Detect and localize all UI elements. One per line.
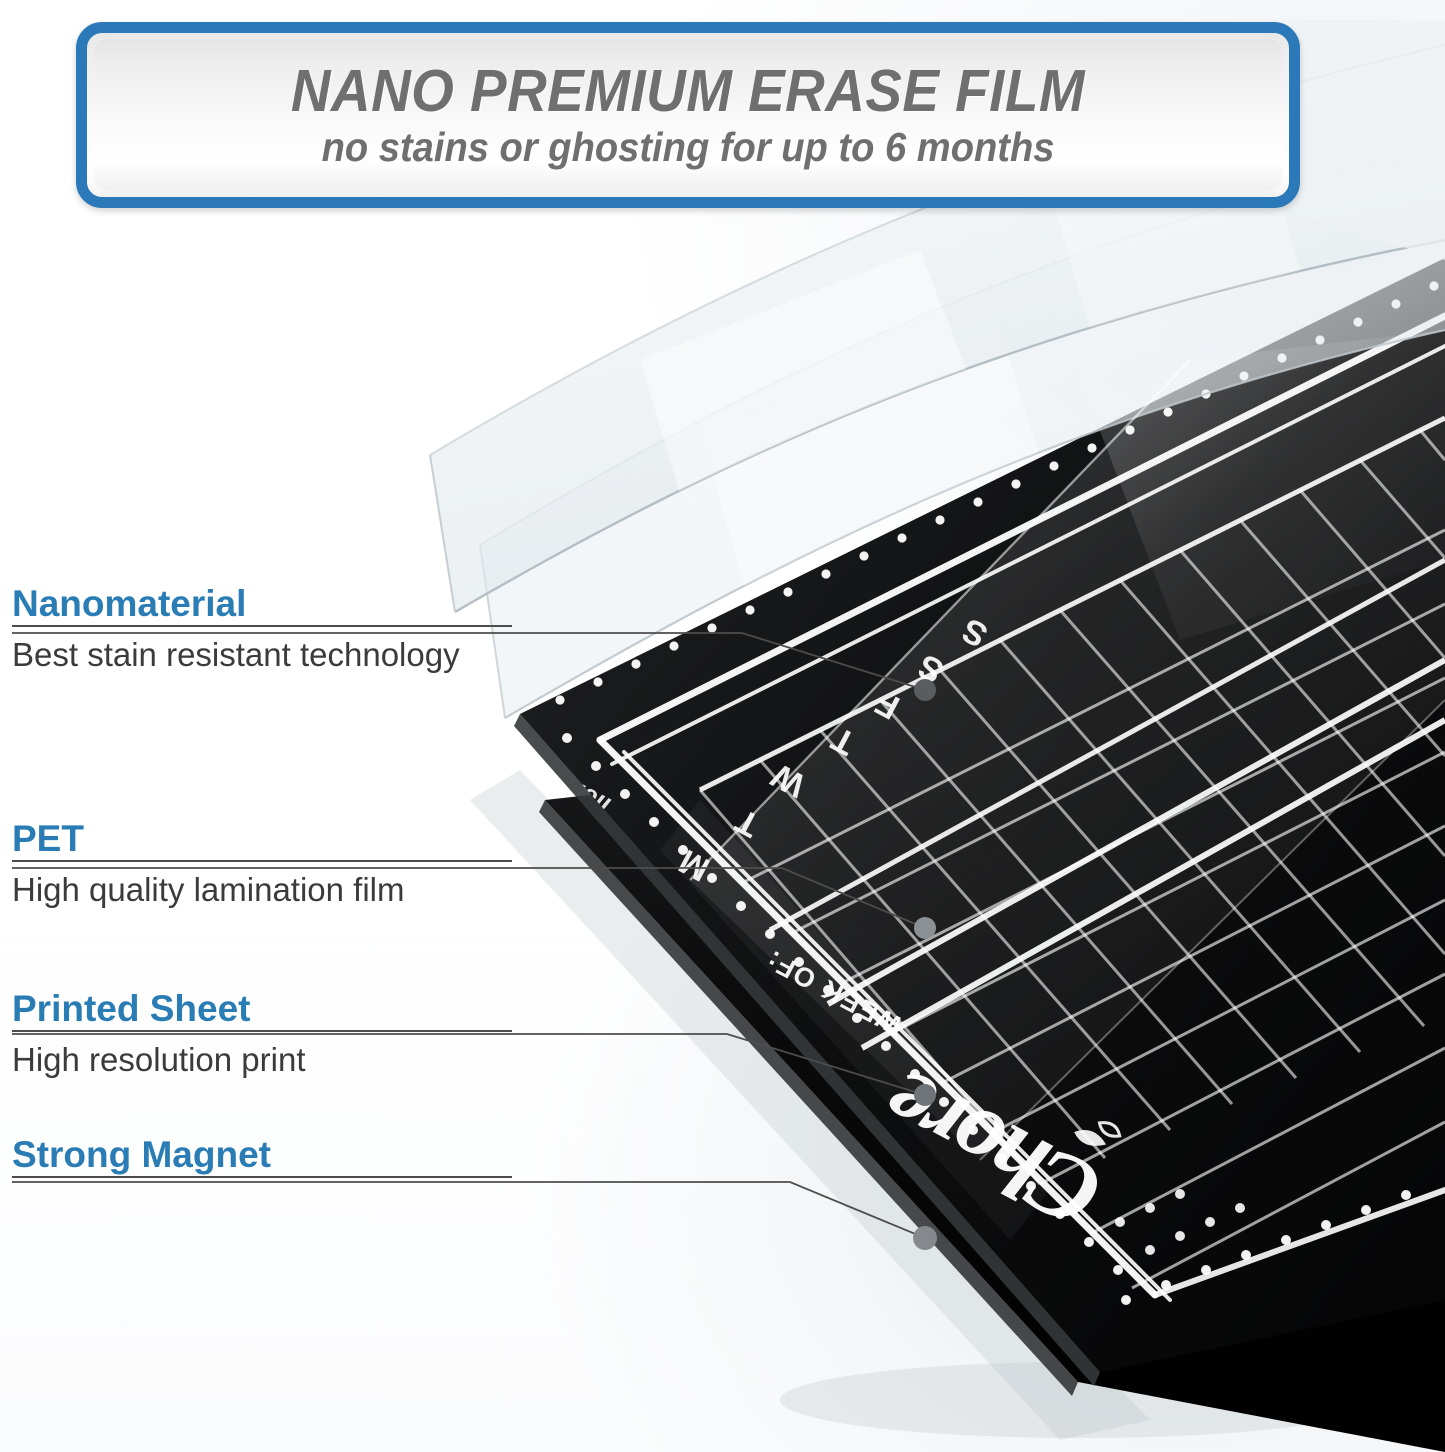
product-infographic-scene: M T W T F S S: [0, 0, 1445, 1452]
header-banner: NANO PREMIUM ERASE FILM no stains or gho…: [76, 22, 1300, 208]
callout-subtitle-nanomaterial: Best stain resistant technology: [12, 634, 512, 675]
callout-pet: PET High quality lamination film: [12, 818, 512, 911]
callout-title-printed-sheet: Printed Sheet: [12, 988, 512, 1029]
product-photo: M T W T F S S: [0, 0, 1445, 1452]
banner-title: NANO PREMIUM ERASE FILM: [291, 61, 1085, 121]
header-banner-inner: NANO PREMIUM ERASE FILM no stains or gho…: [93, 39, 1283, 191]
banner-subtitle: no stains or ghosting for up to 6 months: [322, 126, 1055, 169]
callout-rule-printed-sheet: [12, 1030, 512, 1032]
callout-rule-nanomaterial: [12, 625, 512, 627]
callout-subtitle-printed-sheet: High resolution print: [12, 1039, 512, 1080]
callout-rule-strong-magnet: [12, 1176, 512, 1178]
callout-title-strong-magnet: Strong Magnet: [12, 1134, 512, 1175]
callout-subtitle-pet: High quality lamination film: [12, 869, 512, 910]
callout-nanomaterial: Nanomaterial Best stain resistant techno…: [12, 583, 512, 676]
callout-printed-sheet: Printed Sheet High resolution print: [12, 988, 512, 1081]
callout-title-pet: PET: [12, 818, 512, 859]
callout-title-nanomaterial: Nanomaterial: [12, 583, 512, 624]
callout-strong-magnet: Strong Magnet: [12, 1134, 512, 1178]
callout-rule-pet: [12, 860, 512, 862]
